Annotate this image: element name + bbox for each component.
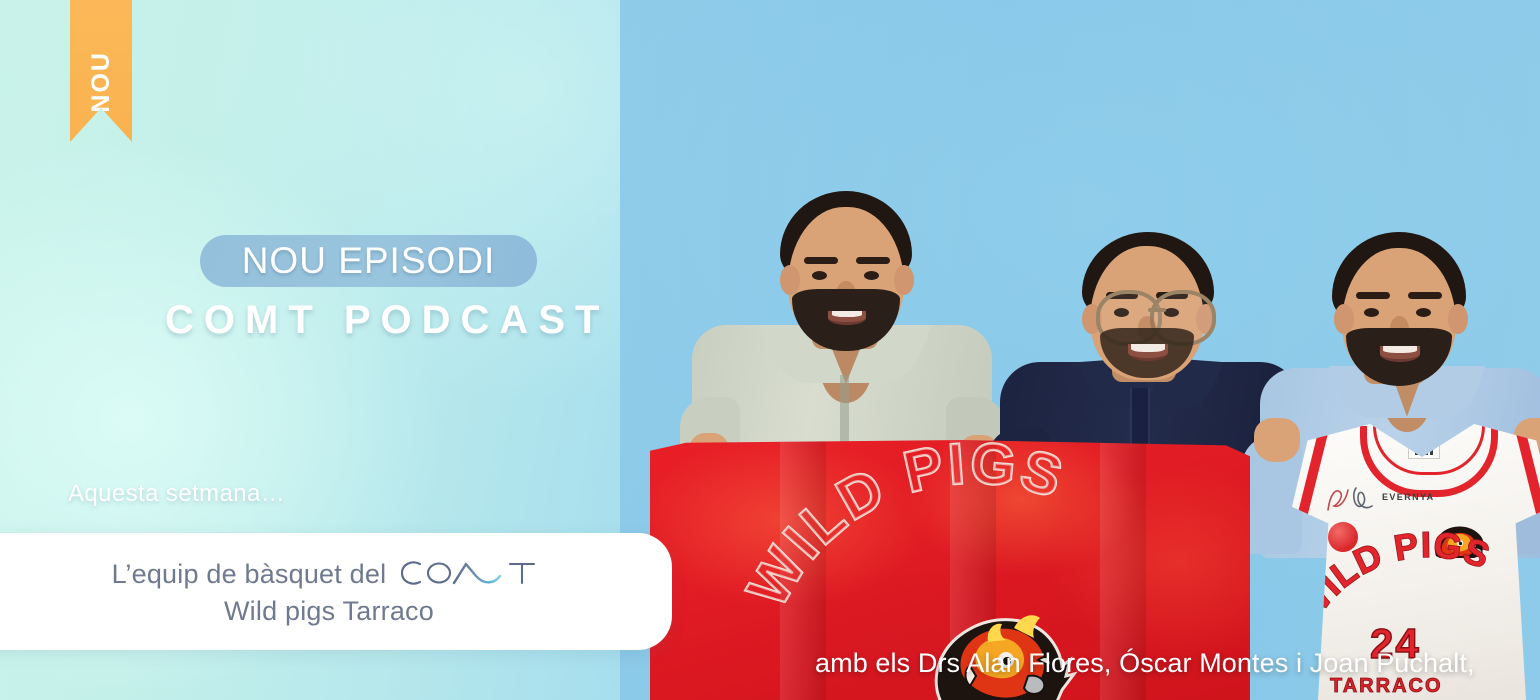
group-photo: WILD PIGS — [620, 0, 1540, 700]
topic-prefix: L’equip de bàsquet del — [112, 559, 387, 590]
jersey-brand-label: EVERNYA — [1382, 492, 1434, 502]
ear-left — [780, 265, 800, 295]
hand-left — [1254, 418, 1300, 462]
ear-left — [1334, 304, 1354, 334]
eye-left — [812, 271, 827, 280]
guest-caption: amb els Drs Alan Flores, Óscar Montes i … — [815, 648, 1475, 679]
eye-right — [1416, 308, 1431, 317]
jersey-team-text: WILD PIGS — [1306, 564, 1538, 640]
brow-right — [856, 257, 890, 264]
brow-left — [1356, 292, 1390, 299]
topic-line-two: Wild pigs Tarraco — [218, 596, 434, 627]
comt-wave-logo — [396, 556, 540, 592]
this-week-label: Aquesta setmana… — [68, 480, 285, 508]
teeth — [1131, 344, 1165, 352]
eye-right — [864, 271, 879, 280]
topic-line-one: L’equip de bàsquet del — [112, 556, 541, 592]
comt-logo-svg — [396, 556, 540, 592]
teeth — [832, 311, 862, 317]
brow-left — [804, 257, 838, 264]
jersey-signature-icon — [1324, 482, 1378, 516]
new-badge-ribbon: NOU — [70, 0, 132, 142]
page-title: COMT PODCAST — [165, 298, 609, 343]
new-episode-pill: NOU EPISODI — [200, 235, 537, 287]
new-episode-label: NOU EPISODI — [242, 240, 496, 282]
glasses-bridge — [1148, 308, 1166, 312]
ear-right — [894, 265, 914, 295]
ribbon-label: NOU — [87, 29, 116, 113]
podcast-promo-banner: WILD PIGS — [0, 0, 1540, 700]
brow-right — [1408, 292, 1442, 299]
ear-right — [1448, 304, 1468, 334]
episode-topic-card: L’equip de bàsquet del — [0, 533, 672, 650]
teeth — [1383, 346, 1417, 353]
boar-mascot-icon — [910, 568, 1100, 700]
eye-left — [1364, 308, 1379, 317]
